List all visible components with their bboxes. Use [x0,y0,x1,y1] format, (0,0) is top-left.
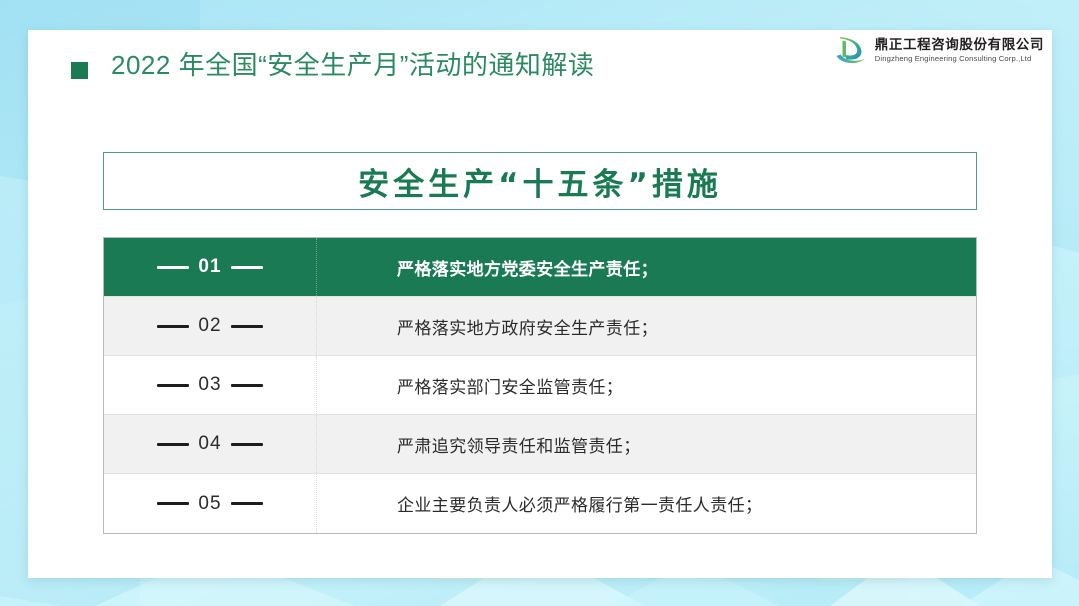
banner-title: 安全生产“十五条”措施 [358,159,722,204]
table-row[interactable]: 03严格落实部门安全监管责任； [104,356,976,415]
dash-left-icon [157,443,189,446]
logo-text-block: 鼎正工程咨询股份有限公司 Dingzheng Engineering Consu… [875,39,1044,63]
company-logo: 鼎正工程咨询股份有限公司 Dingzheng Engineering Consu… [834,34,1044,68]
dash-left-icon [157,325,189,328]
table-row[interactable]: 02严格落实地方政府安全生产责任； [104,297,976,356]
square-bullet-icon [71,62,88,79]
dash-right-icon [231,266,263,269]
measure-number-cell: 02 [104,297,317,355]
measure-text: 严格落实地方政府安全生产责任； [317,297,976,355]
measure-text: 严格落实地方党委安全生产责任； [317,238,976,296]
table-row[interactable]: 05企业主要负责人必须严格履行第一责任人责任； [104,474,976,533]
measure-number: 04 [198,433,221,455]
measure-text: 严格落实部门安全监管责任； [317,356,976,414]
measure-text: 企业主要负责人必须严格履行第一责任人责任； [317,474,976,533]
dash-right-icon [231,443,263,446]
page-header: 2022 年全国“安全生产月”活动的通知解读 [28,30,1052,122]
table-row[interactable]: 04严肃追究领导责任和监管责任； [104,415,976,474]
table-row[interactable]: 01严格落实地方党委安全生产责任； [104,238,976,297]
measure-number: 03 [198,374,221,396]
banner-box: 安全生产“十五条”措施 [103,152,977,210]
dash-left-icon [157,266,189,269]
dash-right-icon [231,325,263,328]
dash-left-icon [157,384,189,387]
measure-text: 严肃追究领导责任和监管责任； [317,415,976,473]
slide-background: 2022 年全国“安全生产月”活动的通知解读 [0,0,1079,606]
logo-company-name-en: Dingzheng Engineering Consulting Corp.,L… [875,55,1044,63]
measure-number-cell: 03 [104,356,317,414]
measures-table: 01严格落实地方党委安全生产责任；02严格落实地方政府安全生产责任；03严格落实… [103,237,977,534]
logo-company-name-cn: 鼎正工程咨询股份有限公司 [875,39,1044,53]
dash-right-icon [231,384,263,387]
measure-number: 05 [198,493,221,515]
dash-right-icon [231,502,263,505]
measure-number: 02 [198,315,221,337]
dash-left-icon [157,502,189,505]
dingzheng-leaf-logo-icon [834,34,868,68]
measure-number-cell: 05 [104,474,317,533]
measure-number-cell: 01 [104,238,317,296]
page-title: 2022 年全国“安全生产月”活动的通知解读 [111,45,594,82]
measure-number: 01 [198,256,221,278]
slide-card: 2022 年全国“安全生产月”活动的通知解读 [28,30,1052,578]
measure-number-cell: 04 [104,415,317,473]
